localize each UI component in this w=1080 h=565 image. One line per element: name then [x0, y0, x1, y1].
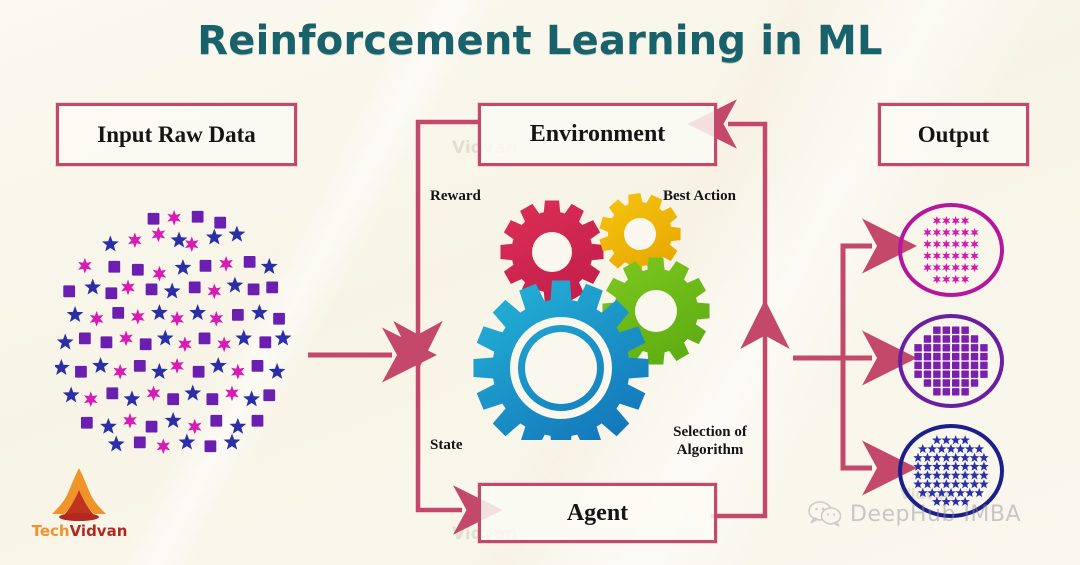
output-circle-stars-blue-item: [960, 435, 970, 444]
output-circle-squares-item: [961, 362, 968, 369]
watermark-text: DeepHub IMBA: [850, 502, 1021, 527]
scatter-point-square: [148, 213, 160, 225]
arrow-loop-to-outputs: [793, 246, 872, 468]
scatter-point-square: [146, 421, 158, 433]
output-circle-squares-item: [924, 379, 931, 386]
scatter-point-square: [75, 366, 87, 378]
output-circle-stars-blue-item: [951, 479, 961, 488]
output-circle-squares-item: [961, 379, 968, 386]
diagram-canvas: Vidvan Vidvan Vidvan Reinforcement Learn…: [0, 0, 1080, 565]
output-circle-stars-blue-item: [946, 488, 956, 497]
output-circle-stars-blue-item: [960, 462, 970, 471]
output-circle-stars-blue-item: [951, 435, 961, 444]
scatter-point-square: [81, 417, 93, 429]
output-circle-squares-item: [971, 370, 978, 377]
output-circle-squares-item: [952, 370, 959, 377]
label-selection-line2: Algorithm: [677, 442, 744, 458]
scatter-point-star5: [228, 226, 245, 242]
output-circle-stars-pink-item: [923, 239, 931, 248]
output-circle-stars-pink-item: [970, 239, 978, 248]
output-circle-stars-pink-item: [961, 239, 969, 248]
output-circle-stars-pink-item: [923, 228, 931, 237]
scatter-point-star6: [209, 311, 223, 327]
output-circle-stars-pink-item: [942, 216, 950, 225]
output-circle-stars-blue-item: [913, 462, 923, 471]
scatter-point-star5: [92, 357, 109, 373]
output-circle-stars-pink-item: [942, 228, 950, 237]
output-circle-stars-blue-item: [918, 488, 928, 497]
scatter-point-square: [189, 282, 201, 294]
output-circle-stars-blue-item: [941, 435, 951, 444]
output-circle-squares-item: [924, 335, 931, 342]
output-circle-squares-item: [933, 353, 940, 360]
scatter-point-star6: [167, 210, 181, 226]
output-circle-squares-item: [971, 362, 978, 369]
output-circle-squares-item: [933, 379, 940, 386]
output-circle-squares-item: [943, 370, 950, 377]
scatter-point-square: [266, 282, 278, 294]
output-circle-stars-blue-item: [960, 453, 970, 462]
scatter-point-star6: [84, 391, 98, 407]
output-circle-squares-item: [961, 344, 968, 351]
output-circle-stars-blue-item: [979, 479, 989, 488]
scatter-point-star6: [128, 232, 142, 248]
scatter-point-star5: [151, 363, 168, 379]
scatter-point-star6: [152, 227, 166, 243]
output-circle-squares-item: [933, 327, 940, 334]
techvidvan-mark-icon: [22, 466, 137, 524]
output-circle-stars-pink-item: [952, 216, 960, 225]
scatter-point-star5: [175, 259, 192, 275]
output-circle-stars-blue-item: [946, 444, 956, 453]
scatter-point-star5: [251, 304, 268, 320]
output-circle-stars-pink-item: [942, 239, 950, 248]
scatter-point-star6: [78, 258, 92, 274]
scatter-point-star5: [55, 359, 70, 375]
output-circle-squares-item: [952, 362, 959, 369]
output-circle-stars-pink-item: [952, 251, 960, 260]
scatter-point-star5: [124, 390, 141, 406]
scatter-point-star6: [217, 336, 231, 352]
output-circle-stars-blue-item: [951, 462, 961, 471]
output-circle-stars-blue-item: [923, 479, 933, 488]
scatter-point-star6: [90, 311, 104, 327]
output-circle-stars-pink-item: [961, 275, 969, 284]
scatter-point-star6: [131, 309, 145, 325]
output-circle-squares-item: [914, 362, 921, 369]
scatter-point-square: [101, 336, 113, 348]
scatter-point-star6: [208, 283, 222, 299]
scatter-point-square: [263, 389, 275, 401]
scatter-point-star6: [170, 311, 184, 327]
output-circle-stars-blue-item: [956, 444, 966, 453]
scatter-point-square: [273, 313, 285, 325]
scatter-point-star6: [153, 266, 167, 282]
output-circle-stars-blue-item: [932, 479, 942, 488]
scatter-point-square: [252, 360, 264, 372]
output-circle-stars-blue-item: [951, 453, 961, 462]
scatter-point-star5: [269, 363, 286, 379]
scatter-point-star5: [151, 304, 168, 320]
output-circle-squares-item: [943, 344, 950, 351]
output-circle-squares-item: [980, 353, 987, 360]
output-circle-stars-pink-item: [923, 263, 931, 272]
output-circle-stars-blue-item: [970, 462, 980, 471]
scatter-point-square: [63, 285, 75, 297]
output-circle-stars-pink-item: [961, 228, 969, 237]
output-circle-stars-blue-item: [979, 453, 989, 462]
scatter-point-star6: [170, 358, 184, 374]
scatter-point-star6: [225, 385, 239, 401]
logo-text-part1: Tech: [32, 522, 70, 540]
output-circle-squares-item: [943, 388, 950, 395]
output-circle-stars-blue-item: [927, 488, 937, 497]
output-circle-squares-item: [933, 370, 940, 377]
scatter-point-star5: [100, 418, 117, 434]
scatter-point-star5: [184, 384, 201, 400]
output-circle-stars-blue-item: [941, 479, 951, 488]
scatter-point-star5: [57, 333, 74, 349]
scatter-point-star6: [121, 280, 135, 296]
output-circle-stars-blue-item: [913, 453, 923, 462]
output-circle-squares-item: [952, 379, 959, 386]
scatter-point-star6: [113, 364, 127, 380]
scatter-point-square: [134, 360, 146, 372]
output-circle-squares-item: [943, 335, 950, 342]
output-circle-squares-item: [943, 379, 950, 386]
output-circle-squares-item: [943, 353, 950, 360]
output-circle-squares-item: [952, 327, 959, 334]
output-circle-stars-blue-item: [965, 488, 975, 497]
output-circle-stars-pink-item: [961, 216, 969, 225]
output-circle-stars-pink-item: [942, 251, 950, 260]
scatter-point-square: [244, 256, 256, 268]
scatter-point-square: [205, 440, 217, 452]
output-circle-squares-item: [943, 362, 950, 369]
scatter-point-square: [105, 287, 117, 299]
output-circle-stars-blue-item: [913, 479, 923, 488]
scatter-point-square: [193, 366, 205, 378]
output-circle-stars-blue-item: [970, 470, 980, 479]
scatter-point-square: [106, 387, 118, 399]
scatter-point-star5: [224, 434, 241, 450]
output-circle-squares-item: [914, 370, 921, 377]
input-raw-data-box[interactable]: Input Raw Data: [56, 103, 297, 166]
output-circle-stars-blue-item: [951, 470, 961, 479]
output-circle-stars-blue-item: [923, 462, 933, 471]
scatter-point-star6: [123, 413, 137, 429]
output-circle-squares-item: [952, 335, 959, 342]
scatter-point-square: [146, 283, 158, 295]
scatter-point-star5: [275, 330, 292, 346]
output-circle-stars-blue-item: [956, 488, 966, 497]
scatter-point-square: [199, 333, 211, 345]
output-circle-stars-pink-item: [933, 239, 941, 248]
output-circle-stars-blue-item: [960, 470, 970, 479]
output-circle-stars-pink-item: [970, 251, 978, 260]
output-circle-stars-blue-item: [923, 470, 933, 479]
scatter-point-star6: [157, 438, 171, 454]
scatter-point-star5: [63, 386, 80, 402]
scatter-point-star5: [67, 306, 84, 322]
output-circle-squares-item: [961, 335, 968, 342]
scatter-point-star5: [189, 304, 206, 320]
output-circle-squares-item: [971, 353, 978, 360]
output-circle-squares-item: [971, 344, 978, 351]
output-circle-stars-blue-item: [974, 488, 984, 497]
output-circle-stars-blue-item: [960, 479, 970, 488]
techvidvan-logo-text: TechVidvan: [22, 522, 137, 540]
output-circle-stars-blue-item: [932, 462, 942, 471]
output-circle-stars-blue-item: [941, 470, 951, 479]
output-circle-squares-item: [971, 379, 978, 386]
scatter-point-star5: [261, 258, 278, 274]
logo-text-part2: Vidvan: [70, 522, 128, 540]
output-circle-stars-pink-item: [952, 275, 960, 284]
environment-box[interactable]: Environment: [478, 103, 717, 166]
output-circle-stars-blue-item: [974, 444, 984, 453]
output-circle-squares-item: [961, 388, 968, 395]
scatter-point-star5: [108, 435, 125, 451]
output-circle-squares-item: [971, 335, 978, 342]
scatter-point-star5: [84, 279, 101, 295]
output-circle-stars-blue-item: [932, 435, 942, 444]
output-circle-squares-item: [924, 344, 931, 351]
output-circle-stars-pink-item: [942, 275, 950, 284]
output-circle-squares-item: [980, 370, 987, 377]
scatter-point-star5: [229, 418, 246, 434]
scatter-point-star5: [164, 282, 181, 298]
scatter-point-star6: [185, 236, 199, 252]
scatter-point-star6: [178, 336, 192, 352]
scatter-point-star6: [147, 385, 161, 401]
wechat-icon: [808, 500, 842, 528]
output-circle-stars-blue-item: [970, 453, 980, 462]
output-circle-stars-pink-item: [942, 263, 950, 272]
output-circle-squares-item: [914, 344, 921, 351]
gears-group: [468, 190, 728, 440]
output-circle-squares-item: [914, 353, 921, 360]
output-circle-stars-blue-item: [937, 444, 947, 453]
scatter-point-star5: [243, 390, 260, 406]
output-circle-stars-pink-item: [961, 263, 969, 272]
output-circle-squares-item: [952, 353, 959, 360]
output-circle-stars-pink-item: [970, 228, 978, 237]
output-circle-squares-item: [933, 344, 940, 351]
scatter-point-star6: [188, 419, 202, 435]
output-circle-stars-blue-item: [979, 462, 989, 471]
scatter-point-star5: [178, 434, 195, 450]
scatter-point-square: [252, 415, 264, 427]
scatter-point-star5: [210, 357, 227, 373]
scatter-point-star5: [171, 231, 188, 247]
output-circle-squares-item: [961, 327, 968, 334]
output-circle-squares-item: [924, 370, 931, 377]
output-circle-stars-blue-item: [918, 444, 928, 453]
output-circle-stars-pink-item: [933, 216, 941, 225]
output-circle-stars-pink-item: [933, 275, 941, 284]
scatter-point-square: [192, 211, 204, 223]
output-circle-squares-item: [924, 353, 931, 360]
scatter-point-star5: [206, 229, 223, 245]
gear-green-hole: [635, 290, 677, 332]
scatter-point-square: [134, 436, 146, 448]
output-circle-stars-pink-item: [952, 228, 960, 237]
output-circle-stars-blue-item: [937, 488, 947, 497]
gear-yellow-hole: [624, 218, 656, 250]
scatter-point-square: [108, 261, 120, 273]
scatter-point-square: [200, 260, 212, 272]
output-circle-squares-item: [943, 327, 950, 334]
scatter-point-square: [112, 307, 124, 319]
output-circle-stars-pink-item: [952, 239, 960, 248]
scatter-point-star5: [235, 330, 252, 346]
scatter-point-square: [248, 283, 260, 295]
scatter-point-star6: [219, 256, 233, 272]
output-circle-stars-blue-item: [970, 479, 980, 488]
output-circle-squares-item: [933, 362, 940, 369]
output-circle-squares-item: [952, 344, 959, 351]
scatter-point-square: [167, 393, 179, 405]
output-circle-stars-pink-item: [933, 228, 941, 237]
output-circle-stars-pink-item: [952, 263, 960, 272]
output-circle-stars-blue-item: [932, 453, 942, 462]
scatter-point-square: [210, 415, 222, 427]
output-circle-squares-item: [933, 388, 940, 395]
output-circle-stars-blue-item: [965, 444, 975, 453]
output-circle-stars-pink-item: [961, 251, 969, 260]
output-circle-stars-pink-item: [933, 263, 941, 272]
scatter-point-star5: [227, 277, 244, 293]
scatter-point-star5: [102, 235, 119, 251]
agent-box[interactable]: Agent: [478, 483, 717, 543]
output-circle-stars-blue-item: [941, 453, 951, 462]
output-circle-squares-item: [952, 388, 959, 395]
output-circle-stars-blue-item: [932, 470, 942, 479]
output-circle-stars-blue-item: [927, 444, 937, 453]
output-circle-stars-pink-item: [923, 251, 931, 260]
scatter-point-star6: [119, 331, 133, 347]
gear-cyan-hole: [525, 332, 597, 404]
deephub-imba-watermark: DeepHub IMBA: [808, 500, 1021, 528]
output-circle-stars-blue-item: [941, 462, 951, 471]
scatter-point-star5: [157, 330, 174, 346]
scatter-point-star5: [165, 412, 182, 428]
gear-red-hole: [532, 232, 572, 272]
scatter-point-star6: [231, 364, 245, 380]
scatter-point-square: [79, 333, 91, 345]
output-circle-stars-pink-item: [970, 263, 978, 272]
output-circle-stars-blue-item: [913, 470, 923, 479]
scatter-point-square: [206, 393, 218, 405]
output-circle-stars-blue-item: [923, 453, 933, 462]
scatter-point-square: [214, 217, 226, 229]
output-circle-squares-item: [961, 353, 968, 360]
output-circle-squares: [898, 314, 1004, 408]
output-circle-stars-pink-item: [933, 251, 941, 260]
scatter-point-square: [132, 264, 144, 276]
input-data-scatter: [55, 205, 305, 455]
output-circle-stars-blue-item: [979, 470, 989, 479]
output-box[interactable]: Output: [878, 103, 1029, 166]
output-circle-squares-item: [933, 335, 940, 342]
output-circle-squares-item: [980, 362, 987, 369]
label-state: State: [430, 437, 463, 455]
scatter-point-square: [259, 336, 271, 348]
scatter-point-square: [140, 338, 152, 350]
output-circle-squares-item: [924, 362, 931, 369]
output-circle-squares-item: [961, 370, 968, 377]
output-circle-stars-pink: [898, 203, 1004, 297]
techvidvan-logo[interactable]: TechVidvan: [22, 466, 137, 548]
output-circle-squares-item: [980, 344, 987, 351]
scatter-point-square: [232, 309, 244, 321]
